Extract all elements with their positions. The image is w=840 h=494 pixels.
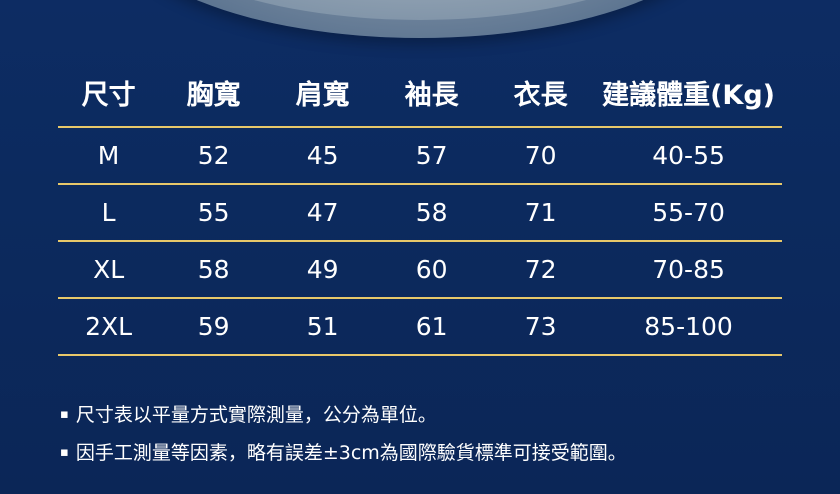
cell-size: L [58, 184, 159, 241]
cell-shoulder: 45 [268, 127, 377, 184]
table-row: XL 58 49 60 72 70-85 [58, 241, 782, 298]
notes-section: ▪ 尺寸表以平量方式實際測量，公分為單位。 ▪ 因手工測量等因素，略有誤差±3c… [60, 398, 800, 474]
size-table-container: 尺寸 胸寬 肩寬 袖長 衣長 建議體重(Kg) M 52 45 57 70 40… [0, 60, 840, 356]
cell-weight: 85-100 [595, 298, 782, 355]
size-table-head: 尺寸 胸寬 肩寬 袖長 衣長 建議體重(Kg) [58, 60, 782, 127]
cell-length: 72 [486, 241, 595, 298]
bullet-icon: ▪ [60, 436, 69, 470]
cell-shoulder: 49 [268, 241, 377, 298]
column-header-shoulder: 肩寬 [268, 60, 377, 127]
cell-size: 2XL [58, 298, 159, 355]
table-header-row: 尺寸 胸寬 肩寬 袖長 衣長 建議體重(Kg) [58, 60, 782, 127]
cell-sleeve: 60 [377, 241, 486, 298]
table-row: L 55 47 58 71 55-70 [58, 184, 782, 241]
cell-chest: 59 [159, 298, 268, 355]
size-table-body: M 52 45 57 70 40-55 L 55 47 58 71 55-70 … [58, 127, 782, 355]
column-header-weight: 建議體重(Kg) [595, 60, 782, 127]
cell-weight: 55-70 [595, 184, 782, 241]
column-header-sleeve: 袖長 [377, 60, 486, 127]
cell-length: 73 [486, 298, 595, 355]
column-header-size: 尺寸 [58, 60, 159, 127]
cell-shoulder: 51 [268, 298, 377, 355]
table-row: M 52 45 57 70 40-55 [58, 127, 782, 184]
cell-chest: 52 [159, 127, 268, 184]
cell-length: 70 [486, 127, 595, 184]
note-text: 因手工測量等因素，略有誤差±3cm為國際驗貨標準可接受範圍。 [76, 436, 800, 470]
cell-sleeve: 61 [377, 298, 486, 355]
column-header-length: 衣長 [486, 60, 595, 127]
cell-weight: 40-55 [595, 127, 782, 184]
bullet-icon: ▪ [60, 398, 69, 432]
note-line: ▪ 因手工測量等因素，略有誤差±3cm為國際驗貨標準可接受範圍。 [60, 436, 800, 470]
cell-size: XL [58, 241, 159, 298]
cell-shoulder: 47 [268, 184, 377, 241]
note-text: 尺寸表以平量方式實際測量，公分為單位。 [76, 398, 800, 432]
size-table: 尺寸 胸寬 肩寬 袖長 衣長 建議體重(Kg) M 52 45 57 70 40… [58, 60, 782, 356]
cell-sleeve: 57 [377, 127, 486, 184]
size-chart-page: 尺寸 胸寬 肩寬 袖長 衣長 建議體重(Kg) M 52 45 57 70 40… [0, 0, 840, 494]
note-line: ▪ 尺寸表以平量方式實際測量，公分為單位。 [60, 398, 800, 432]
column-header-chest: 胸寬 [159, 60, 268, 127]
cell-chest: 55 [159, 184, 268, 241]
cell-chest: 58 [159, 241, 268, 298]
cell-length: 71 [486, 184, 595, 241]
cell-weight: 70-85 [595, 241, 782, 298]
cell-size: M [58, 127, 159, 184]
table-row: 2XL 59 51 61 73 85-100 [58, 298, 782, 355]
cell-sleeve: 58 [377, 184, 486, 241]
